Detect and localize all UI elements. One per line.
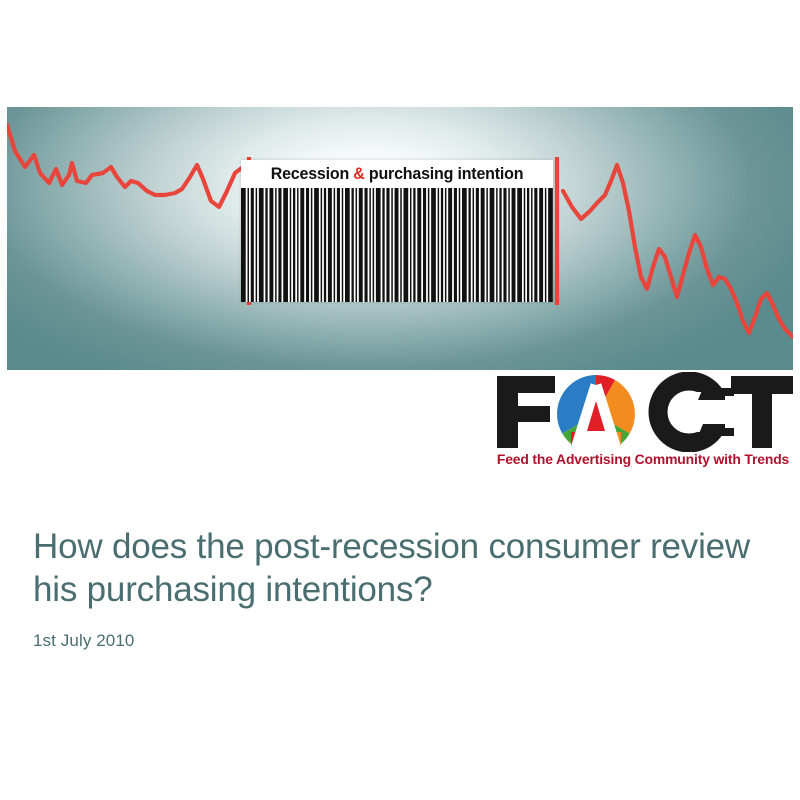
logo-letter-a-pie	[557, 375, 641, 452]
barcode-bar	[356, 188, 357, 302]
trend-line-left	[7, 125, 249, 207]
barcode-bar	[391, 188, 392, 302]
barcode-bar	[373, 188, 374, 302]
barcode-bar	[517, 188, 522, 302]
barcode-caption: Recession & purchasing intention	[246, 165, 549, 184]
barcode-caption-ampersand: &	[353, 165, 364, 183]
logo-letter-t	[731, 376, 793, 448]
barcode-bar	[476, 188, 479, 302]
barcode-bar	[265, 188, 267, 302]
barcode-bar	[251, 188, 254, 302]
barcode-bar	[499, 188, 501, 302]
barcode-bar	[328, 188, 332, 302]
barcode-bar	[395, 188, 399, 302]
barcode-bar	[473, 188, 474, 302]
barcode-bar	[539, 188, 543, 302]
barcode-bar	[297, 188, 298, 302]
barcode-bar	[293, 188, 295, 302]
barcode-bar	[512, 188, 516, 302]
barcode-bar	[524, 188, 525, 302]
barcode-bar	[534, 188, 537, 302]
barcode-bar	[283, 188, 288, 302]
barcode-bar	[241, 188, 246, 302]
barcode-bar	[445, 188, 446, 302]
barcode-bar	[462, 188, 467, 302]
barcode-bar	[359, 188, 363, 302]
barcode-caption-suffix: purchasing intention	[365, 165, 524, 183]
barcode-bar	[311, 188, 312, 302]
barcode-bar	[400, 188, 401, 302]
barcode-bar	[545, 188, 546, 302]
barcode-bar	[324, 188, 326, 302]
barcode-bar	[269, 188, 273, 302]
barcode-caption-prefix: Recession	[271, 165, 354, 183]
page-date: 1st July 2010	[33, 631, 763, 651]
barcode-bar	[314, 188, 319, 302]
barcode-bar	[404, 188, 409, 302]
barcode-bar	[376, 188, 381, 302]
barcode-bars	[241, 188, 553, 302]
fact-logo: Feed the Advertising Community with Tren…	[493, 372, 793, 478]
barcode-bar	[259, 188, 264, 302]
barcode-bar	[342, 188, 343, 302]
barcode-bar	[548, 188, 553, 302]
barcode-bar	[410, 188, 411, 302]
logo-letter-f	[497, 376, 555, 448]
barcode-bar	[417, 188, 421, 302]
barcode-bar	[448, 188, 452, 302]
barcode-bar	[321, 188, 322, 302]
barcode-bar	[486, 188, 487, 302]
barcode-bar	[508, 188, 509, 302]
barcode-bar	[469, 188, 471, 302]
barcode-bar	[306, 188, 309, 302]
barcode-bar	[365, 188, 368, 302]
barcode-bar	[290, 188, 291, 302]
barcode-bar	[441, 188, 443, 302]
barcode-bar	[438, 188, 439, 302]
barcode-bar	[423, 188, 426, 302]
barcode-bar	[352, 188, 354, 302]
barcode-bar	[428, 188, 429, 302]
headline-block: How does the post-recession consumer rev…	[33, 525, 763, 651]
barcode-bar	[413, 188, 415, 302]
barcode-bar	[531, 188, 532, 302]
barcode-bar	[275, 188, 276, 302]
barcode-bar	[337, 188, 340, 302]
barcode-bar	[256, 188, 257, 302]
barcode-bar	[431, 188, 436, 302]
barcode-bar	[248, 188, 249, 302]
barcode-bar	[490, 188, 495, 302]
barcode-bar	[496, 188, 497, 302]
barcode-bar	[386, 188, 389, 302]
barcode-bar	[300, 188, 304, 302]
barcode-bar	[503, 188, 506, 302]
barcode-graphic: Recession & purchasing intention	[241, 160, 553, 302]
fact-logo-tagline: Feed the Advertising Community with Tren…	[496, 452, 790, 468]
barcode-bar	[345, 188, 350, 302]
barcode-bar	[454, 188, 457, 302]
barcode-bar	[334, 188, 335, 302]
barcode-bar	[481, 188, 485, 302]
barcode-bar	[278, 188, 281, 302]
barcode-bar	[527, 188, 529, 302]
fact-logo-mark	[493, 372, 793, 452]
trend-line-right	[563, 165, 793, 337]
barcode-bar	[382, 188, 384, 302]
page-title: How does the post-recession consumer rev…	[33, 525, 763, 612]
barcode-bar	[459, 188, 460, 302]
barcode-bar	[369, 188, 370, 302]
